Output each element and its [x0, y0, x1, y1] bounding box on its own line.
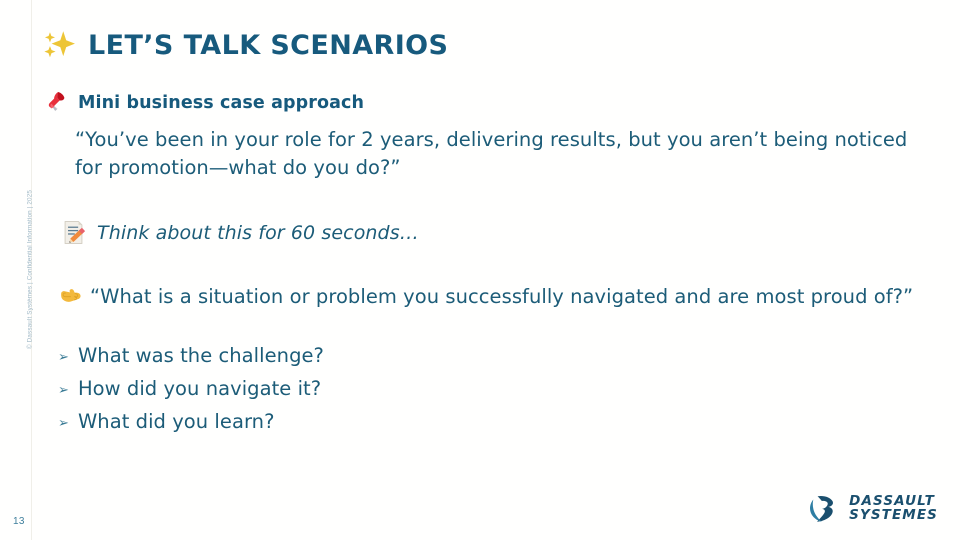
sub-question-list: ➢ What was the challenge? ➢ How did you …: [58, 344, 658, 443]
subtitle: Mini business case approach: [78, 93, 364, 113]
logo-line-2: SYSTEMES: [849, 509, 938, 523]
title-row: LET’S TALK SCENARIOS: [42, 28, 448, 62]
3ds-compass-icon: [808, 493, 842, 525]
sparkles-icon: [42, 28, 76, 62]
pushpin-icon: [42, 90, 67, 115]
slide-canvas: © Dassault Systèmes | Confidential Infor…: [0, 0, 960, 540]
dassault-systemes-logo: DASSAULT SYSTEMES: [808, 493, 938, 525]
list-item: ➢ What was the challenge?: [58, 344, 658, 377]
scenario-quote: “You’ve been in your role for 2 years, d…: [75, 126, 920, 182]
think-row: Think about this for 60 seconds…: [60, 219, 419, 246]
subtitle-row: Mini business case approach: [42, 90, 364, 115]
list-item: ➢ What did you learn?: [58, 410, 658, 443]
list-item: ➢ How did you navigate it?: [58, 377, 658, 410]
think-prompt: Think about this for 60 seconds…: [97, 222, 419, 244]
page-number: 13: [13, 516, 25, 527]
page-title: LET’S TALK SCENARIOS: [88, 32, 448, 59]
bullet-arrow-icon: ➢: [58, 384, 69, 397]
list-item-label: What was the challenge?: [78, 344, 324, 367]
confidential-note: © Dassault Systèmes | Confidential Infor…: [27, 170, 34, 370]
logo-wordmark: DASSAULT SYSTEMES: [849, 495, 938, 523]
bullet-arrow-icon: ➢: [58, 351, 69, 364]
prompt-block: “What is a situation or problem you succ…: [58, 283, 918, 311]
bullet-arrow-icon: ➢: [58, 417, 69, 430]
pointing-right-icon: [58, 283, 83, 308]
list-item-label: How did you navigate it?: [78, 377, 321, 400]
list-item-label: What did you learn?: [78, 410, 275, 433]
memo-icon: [60, 219, 87, 246]
prompt-text: “What is a situation or problem you succ…: [90, 285, 913, 308]
